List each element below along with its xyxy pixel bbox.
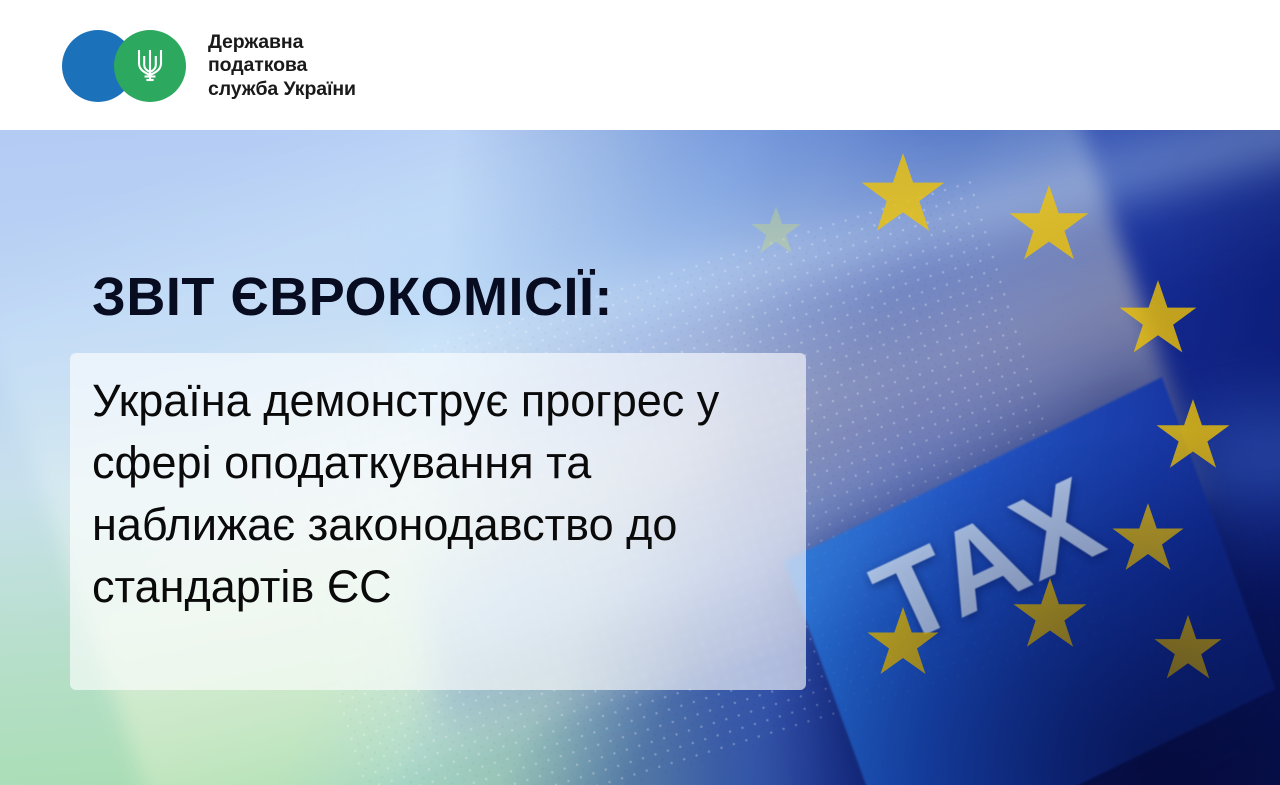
poster-canvas: TAX ЗВІТ ЄВРОКОМІСІЇ: Україна демонструє…: [0, 0, 1280, 785]
header-band: Державна податкова служба України: [0, 0, 1280, 130]
logo-line-3: служба України: [208, 78, 356, 102]
logo-line-1: Державна: [208, 31, 356, 55]
organization-name: Державна податкова служба України: [208, 31, 356, 102]
logo-line-2: податкова: [208, 54, 356, 78]
corner-vignette: [760, 425, 1280, 785]
ukraine-tryzub-icon: [114, 30, 186, 102]
page-subtitle: Україна демонструє прогрес у сфері опода…: [92, 370, 802, 618]
logo-marks: [62, 30, 186, 102]
page-title: ЗВІТ ЄВРОКОМІСІЇ:: [92, 268, 613, 326]
organization-logo[interactable]: Державна податкова служба України: [62, 30, 356, 102]
